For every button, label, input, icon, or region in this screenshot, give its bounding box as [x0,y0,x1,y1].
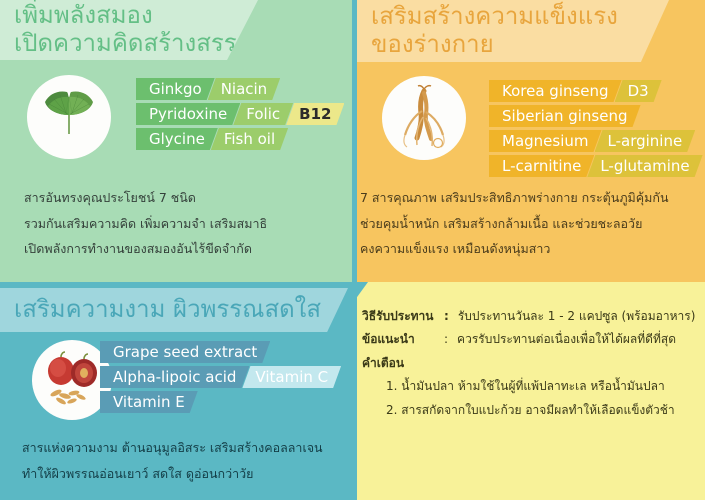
panel-brain-header: เพิ่มพลังสมอง เปิดความคิดสร้างสรรค์ [0,0,258,60]
ingredient-tag-label: Grape seed extract [113,343,257,361]
description-line: ช่วยคุมน้ำหนัก เสริมสร้างกล้ามเนื้อ และช… [360,211,696,237]
brain-title-line2: เปิดความคิดสร้างสรรค์ [14,30,258,58]
ingredient-tag-label: Glycine [149,130,205,148]
dosage-label: วิธีรับประทาน [362,305,444,328]
description-line: สารแห่งความงาม ต้านอนุมูลอิสระ เสริมสร้า… [22,435,347,461]
ingredient-tag-label: Korea ginseng [502,82,609,100]
description-line: รวมกันเสริมความคิด เพิ่มความจำ เสริมสมาธ… [24,211,344,237]
description-line: ทำให้ผิวพรรณอ่อนเยาว์ สดใส ดูอ่อนกว่าวัย [22,461,347,487]
ingredient-tag-label: Folic [246,105,280,123]
dosage-line: วิธีรับประทาน : รับประทานวันละ 1 - 2 แคป… [362,305,700,328]
advice-label: ข้อแนะนำ [362,328,444,351]
warning-item: 2. สารสกัดจากใบแปะก้วย อาจมีผลทำให้เลือด… [362,399,700,422]
dosage-value: รับประทานวันละ 1 - 2 แคปซูล (พร้อมอาหาร) [458,305,696,328]
ingredient-tag: Fish oil [211,128,288,150]
warning-list: 1. น้ำมันปลา ห้ามใช้ในผู้ที่แพ้ปลาทะเล ห… [362,375,700,422]
brain-description: สารอันทรงคุณประโยชน์ 7 ชนิดรวมกันเสริมคว… [24,185,344,262]
ginkgo-leaf-photo [27,75,111,159]
ingredient-tag: Vitamin E [100,391,198,413]
beauty-tag-row-3: Vitamin E [100,391,191,413]
ingredient-tag: L-glutamine [587,155,702,177]
ingredient-tag: Vitamin C [242,366,341,388]
brain-title-line1: เพิ่มพลังสมอง [14,2,258,30]
how-to-use-block: วิธีรับประทาน : รับประทานวันละ 1 - 2 แคป… [362,305,700,422]
ingredient-tag-label: Vitamin C [255,368,328,386]
ingredient-tag: Korea ginseng [489,80,622,102]
description-line: 7 สารคุณภาพ เสริมประสิทธิภาพร่างกาย กระต… [360,185,696,211]
warning-item: 1. น้ำมันปลา ห้ามใช้ในผู้ที่แพ้ปลาทะเล ห… [362,375,700,398]
ingredient-tag: Magnesium [489,130,602,152]
beauty-tag-row-1: Grape seed extract [100,341,263,363]
ingredient-tag: Alpha-lipoic acid [100,366,249,388]
ingredient-tag-label: L-glutamine [600,157,689,175]
panel-beauty-header: เสริมความงาม ผิวพรรณสดใส [0,288,348,332]
ingredient-tag-label: Niacin [221,80,268,98]
body-tag-row-4: L-carnitineL-glutamine [489,155,696,177]
ingredient-tag-label: Vitamin E [113,393,185,411]
ingredient-tag-label: Magnesium [502,132,589,150]
brain-tag-row-3: GlycineFish oil [136,128,281,150]
body-title-line1: เสริมสร้างความแข็งแรง [371,3,669,31]
brain-tag-row-2: PyridoxineFolicB12 [136,103,337,125]
ingredient-tag-label: Siberian ginseng [502,107,628,125]
ingredient-tag: L-arginine [595,130,696,152]
warning-title: คำเตือน [362,352,700,375]
ingredient-tag: Folic [233,103,293,125]
ingredient-tag-label: Fish oil [224,130,275,148]
ingredient-tag-label: Ginkgo [149,80,202,98]
ingredient-tag-label: L-carnitine [502,157,581,175]
description-line: คงความแข็งแรง เหมือนดังหนุ่มสาว [360,236,696,262]
ingredient-tag: Pyridoxine [136,103,240,125]
ingredient-tag-label: B12 [299,105,331,123]
advice-line: ข้อแนะนำ : ควรรับประทานต่อเนื่องเพื่อให้… [362,328,700,351]
panel-body-header: เสริมสร้างความแข็งแรง ของร่างกาย [357,0,669,62]
ingredient-tag: Ginkgo [136,78,215,100]
body-tag-row-2: Siberian ginseng [489,105,634,127]
advice-value: ควรรับประทานต่อเนื่องเพื่อให้ได้ผลที่ดีท… [457,328,676,351]
panel-brain-health: เพิ่มพลังสมอง เปิดความคิดสร้างสรรค์ Gink… [0,0,352,282]
ingredient-tag-label: D3 [628,82,649,100]
advice-gap [448,328,457,351]
beauty-description: สารแห่งความงาม ต้านอนุมูลอิสระ เสริมสร้า… [22,435,347,486]
ingredient-tag: Glycine [136,128,218,150]
description-line: เปิดพลังการทำงานของสมองอันไร้ขีดจำกัด [24,236,344,262]
orange-panel-left-stripe [352,0,357,282]
ingredient-tag: Niacin [208,78,281,100]
ingredient-tag-label: Pyridoxine [149,105,227,123]
body-tag-row-3: MagnesiumL-arginine [489,130,688,152]
ingredient-tag: B12 [286,103,344,125]
ingredient-tag-label: Alpha-lipoic acid [113,368,236,386]
brain-tag-row-1: GinkgoNiacin [136,78,273,100]
dosage-gap [449,305,458,328]
description-line: สารอันทรงคุณประโยชน์ 7 ชนิด [24,185,344,211]
body-description: 7 สารคุณภาพ เสริมประสิทธิภาพร่างกาย กระต… [360,185,696,262]
ingredient-tag: Siberian ginseng [489,105,641,127]
supplement-infographic-poster: เพิ่มพลังสมอง เปิดความคิดสร้างสรรค์ Gink… [0,0,705,500]
beauty-title-line1: เสริมความงาม ผิวพรรณสดใส [14,296,348,324]
ginseng-root-photo [382,76,466,160]
yellow-panel-left-stripe [352,282,357,500]
ingredient-tag-label: L-arginine [608,132,683,150]
ingredient-tag: L-carnitine [489,155,594,177]
ingredient-tag: Grape seed extract [100,341,270,363]
beauty-tag-row-2: Alpha-lipoic acidVitamin C [100,366,334,388]
body-title-line2: ของร่างกาย [371,31,669,59]
ingredient-tag: D3 [615,80,662,102]
body-tag-row-1: Korea ginsengD3 [489,80,655,102]
